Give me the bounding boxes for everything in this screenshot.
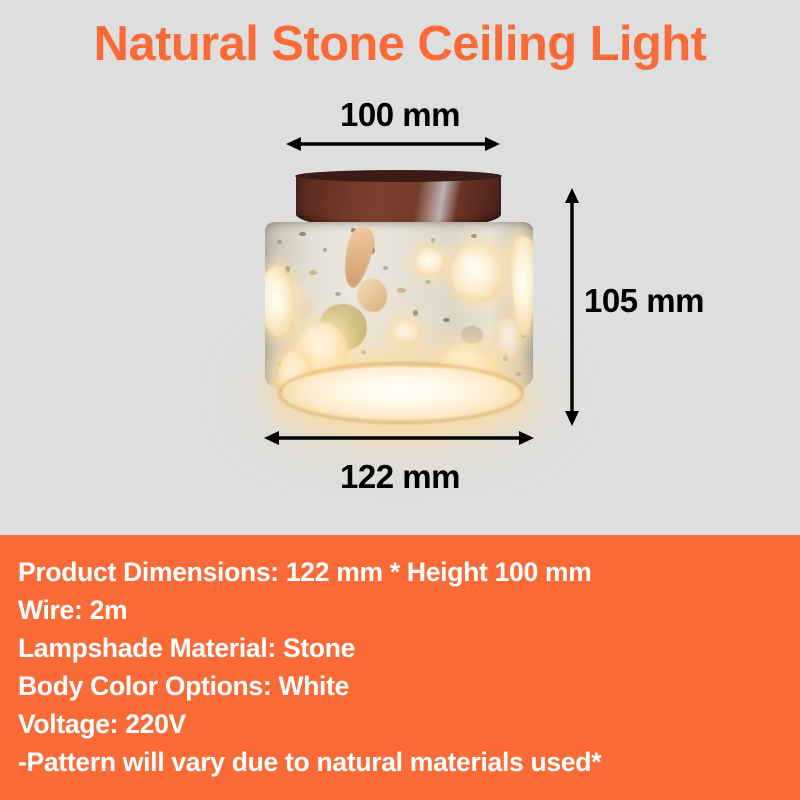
spec-line-material: Lampshade Material: Stone xyxy=(18,629,800,667)
backlit-stone-inclusion xyxy=(415,248,445,276)
lamp-diffuser-rim xyxy=(278,362,524,424)
stone-chip xyxy=(461,326,483,344)
spec-line-color: Body Color Options: White xyxy=(18,667,800,705)
dimension-arrow-right-icon xyxy=(560,188,584,426)
dimension-arrow-bottom-icon xyxy=(264,426,534,450)
product-photo xyxy=(0,0,800,535)
dimension-label-bottom: 122 mm xyxy=(0,458,800,496)
dimension-label-right: 105 mm xyxy=(584,282,704,320)
spec-line-voltage: Voltage: 220V xyxy=(18,705,800,743)
dimension-arrow-top-icon xyxy=(286,132,500,156)
spec-line-disclaimer: -Pattern will vary due to natural materi… xyxy=(18,743,800,781)
spec-line-dimensions: Product Dimensions: 122 mm * Height 100 … xyxy=(18,553,800,591)
spec-line-wire: Wire: 2m xyxy=(18,591,800,629)
backlit-stone-inclusion xyxy=(391,320,421,346)
product-image-area: Natural Stone Ceiling Light xyxy=(0,0,800,535)
lamp-mount-top-edge xyxy=(295,170,502,182)
specification-panel: Product Dimensions: 122 mm * Height 100 … xyxy=(0,535,800,800)
dimension-label-top: 100 mm xyxy=(0,96,800,134)
